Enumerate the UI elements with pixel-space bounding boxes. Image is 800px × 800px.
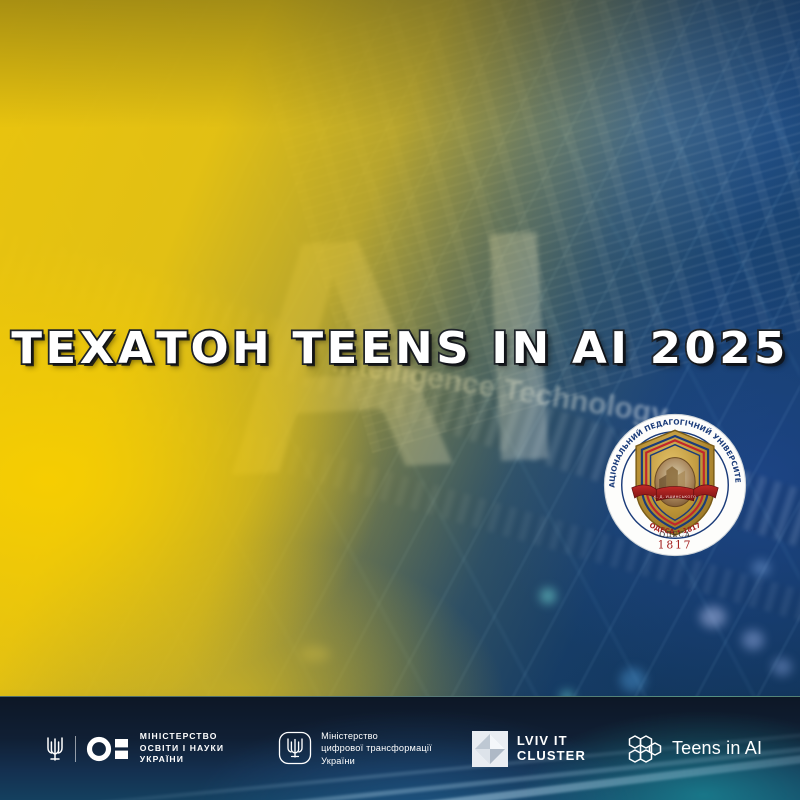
mon-circle-squares-icon xyxy=(85,734,131,764)
lviv-line-2: CLUSTER xyxy=(517,749,586,764)
mdt-line-3: України xyxy=(321,755,432,767)
teens-in-ai-hex-network-icon xyxy=(626,732,662,766)
logo-teens-text: Teens in AI xyxy=(672,737,762,761)
logo-lviv-text: LVIV IT CLUSTER xyxy=(517,734,586,764)
svg-text:К. Д. УШИНСЬКОГО: К. Д. УШИНСЬКОГО xyxy=(654,495,697,499)
logo-teens-in-ai[interactable]: Teens in AI xyxy=(626,732,762,766)
trident-rounded-square-icon xyxy=(278,731,312,765)
mon-line-3: УКРАЇНИ xyxy=(140,754,224,765)
poster-title: ТЕХАТОН TEENS IN AI 2025 xyxy=(11,327,789,371)
lviv-diamond-icon xyxy=(472,731,508,767)
sponsor-logos-row: МІНІСТЕРСТВО ОСВІТИ І НАУКИ УКРАЇНИ xyxy=(0,697,800,800)
logo-mdt-text: Міністерство цифрової трансформації Укра… xyxy=(321,730,432,766)
logo-ministry-of-education[interactable]: МІНІСТЕРСТВО ОСВІТИ І НАУКИ УКРАЇНИ xyxy=(44,731,224,765)
ukraine-trident-icon xyxy=(44,734,66,764)
sponsor-footer-bar: МІНІСТЕРСТВО ОСВІТИ І НАУКИ УКРАЇНИ xyxy=(0,696,800,800)
logo-ministry-of-education-text: МІНІСТЕРСТВО ОСВІТИ І НАУКИ УКРАЇНИ xyxy=(140,731,224,765)
mdt-line-2: цифрової трансформації xyxy=(321,742,432,754)
emblem-city: ОДЕСА xyxy=(659,530,691,539)
mon-line-2: ОСВІТИ І НАУКИ xyxy=(140,743,224,754)
mdt-line-1: Міністерство xyxy=(321,730,432,742)
emblem-year: 1817 xyxy=(658,538,693,551)
poster-canvas: AI Intelligence Technology ТЕХАТОН TEENS… xyxy=(0,0,800,800)
lviv-line-1: LVIV IT xyxy=(517,734,586,749)
logo-lviv-it-cluster[interactable]: LVIV IT CLUSTER xyxy=(472,731,586,767)
logo-ministry-of-digital-transformation[interactable]: Міністерство цифрової трансформації Укра… xyxy=(278,730,432,766)
poster-title-wrap: ТЕХАТОН TEENS IN AI 2025 xyxy=(0,327,800,371)
logo-divider xyxy=(75,736,76,762)
vignette-overlay xyxy=(0,0,800,800)
university-emblem: ПІВДЕННОУКРАЇНСЬКИЙ НАЦІОНАЛЬНИЙ ПЕДАГОГ… xyxy=(603,413,747,557)
mon-line-1: МІНІСТЕРСТВО xyxy=(140,731,224,742)
